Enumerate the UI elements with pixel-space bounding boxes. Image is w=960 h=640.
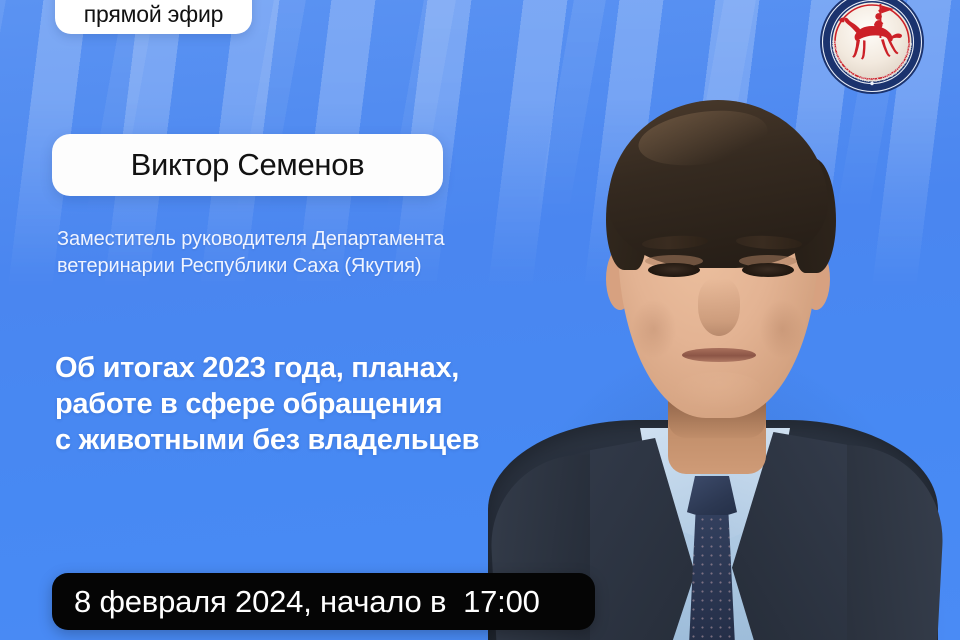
topic-line-2: работе в сфере обращения <box>55 386 555 422</box>
cheek-right <box>760 300 804 358</box>
date-time-badge: 8 февраля 2024, начало в 17:00 <box>52 573 595 630</box>
live-badge-label: прямой эфир <box>84 1 223 28</box>
sakha-coat-of-arms-emblem: РЕСПУБЛИКА САХА (ЯКУТИЯ) САХА ӨРӨСПҮҮБҮЛ… <box>818 0 926 96</box>
cheek-left <box>632 300 676 358</box>
speaker-name-badge: Виктор Семенов <box>52 134 443 196</box>
coat-of-arms-icon: РЕСПУБЛИКА САХА (ЯКУТИЯ) САХА ӨРӨСПҮҮБҮЛ… <box>818 0 926 96</box>
eye-right <box>742 263 794 277</box>
live-broadcast-badge: прямой эфир <box>55 0 252 34</box>
speaker-title-line-1: Заместитель руководителя Департамента <box>57 226 527 253</box>
speaker-name-label: Виктор Семенов <box>131 147 365 183</box>
mouth <box>682 348 756 362</box>
speaker-title: Заместитель руководителя Департамента ве… <box>57 226 527 280</box>
live-broadcast-announcement-poster: РЕСПУБЛИКА САХА (ЯКУТИЯ) САХА ӨРӨСПҮҮБҮЛ… <box>0 0 960 640</box>
broadcast-topic: Об итогах 2023 года, планах, работе в сф… <box>55 350 555 458</box>
chin <box>676 372 762 408</box>
necktie-knot <box>687 476 737 520</box>
speaker-title-line-2: ветеринарии Республики Саха (Якутия) <box>57 253 527 280</box>
nose <box>698 278 740 336</box>
necktie-dot-pattern <box>689 515 735 640</box>
topic-line-1: Об итогах 2023 года, планах, <box>55 350 555 386</box>
topic-line-3: с животными без владельцев <box>55 422 555 458</box>
eye-left <box>648 263 700 277</box>
date-time-label: 8 февраля 2024, начало в 17:00 <box>74 584 540 620</box>
